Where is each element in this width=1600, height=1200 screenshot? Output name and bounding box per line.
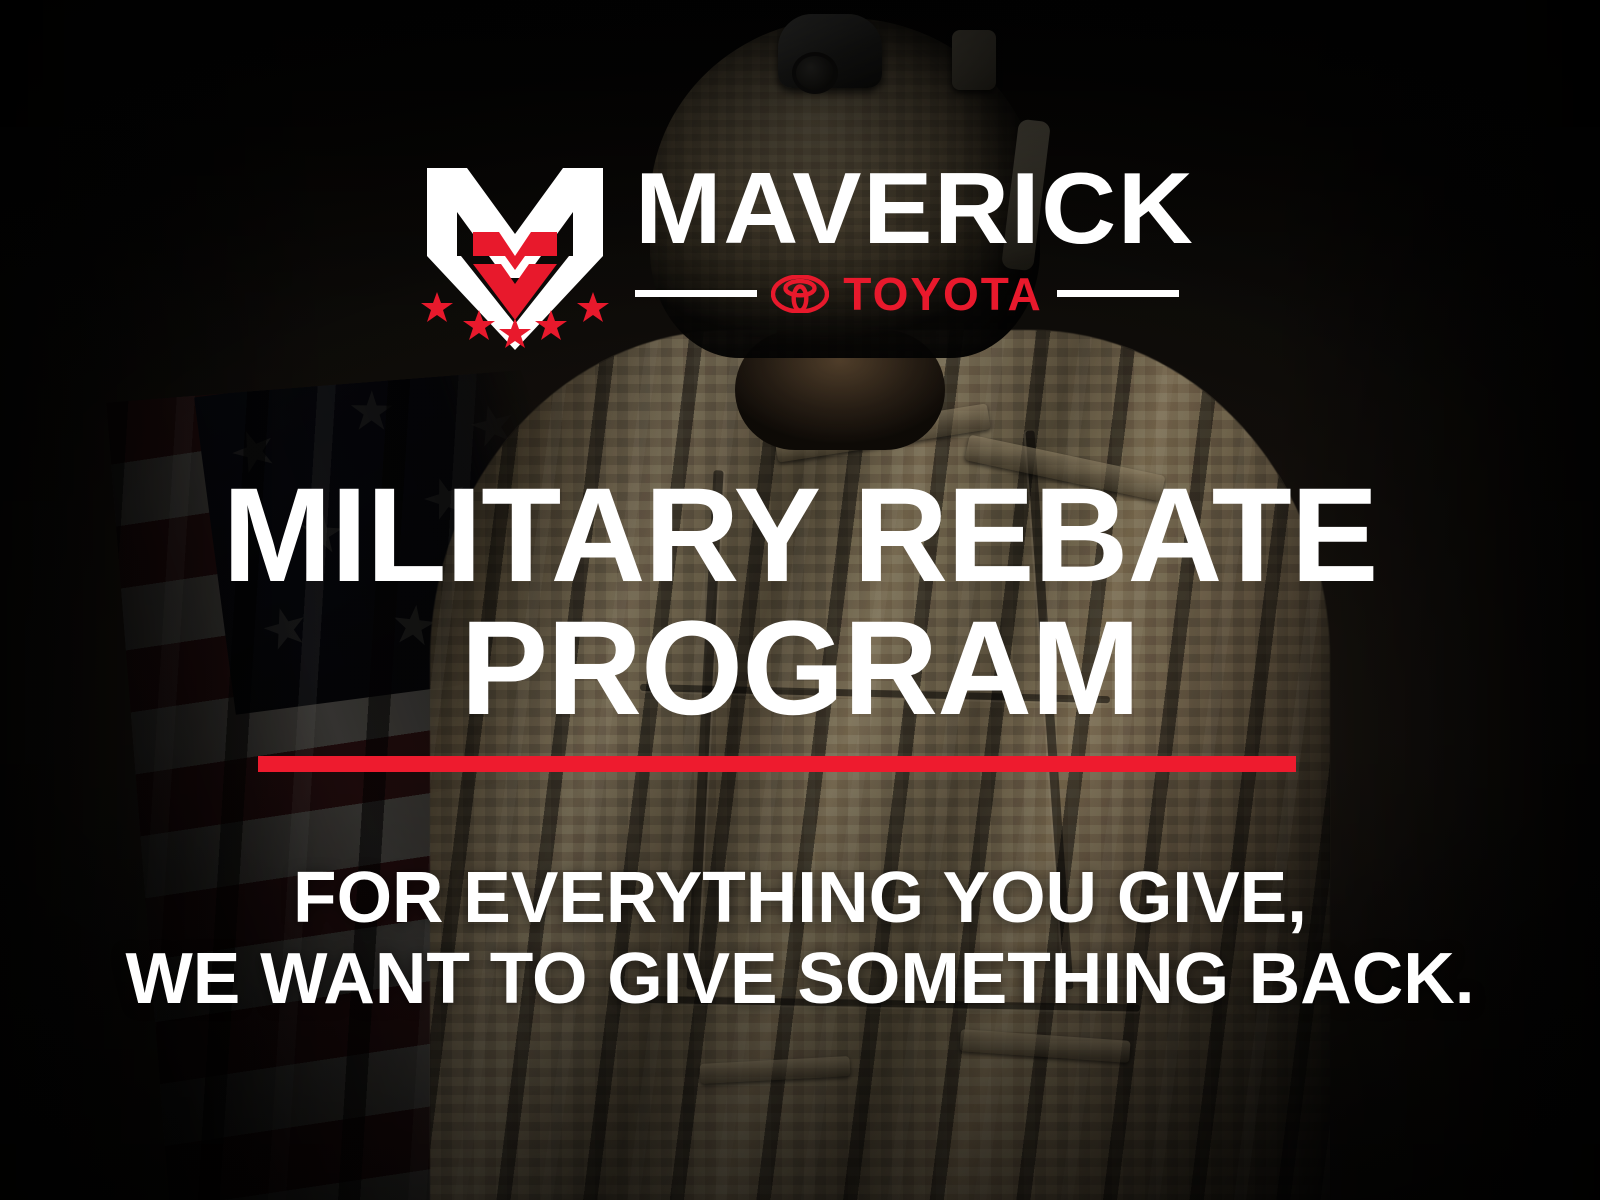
toyota-sub-brand-row: TOYOTA	[635, 271, 1178, 317]
emblem-star-icon	[535, 310, 567, 340]
brand-name: MAVERICK	[635, 160, 1194, 259]
emblem-star-icon	[421, 292, 453, 322]
toyota-ellipses-logo-icon	[771, 275, 829, 313]
brand-logo-lockup[interactable]: MAVERICK TOYOTA	[0, 160, 1600, 350]
page-title: MILITARY REBATE PROGRAM	[16, 470, 1584, 735]
emblem-star-icon	[499, 318, 531, 348]
headline-line-1: MILITARY REBATE	[16, 470, 1584, 603]
brand-wordmark-group: MAVERICK TOYOTA	[635, 160, 1178, 317]
banner-content: MAVERICK TOYOTA MILITARY REB	[0, 0, 1600, 1200]
maverick-chevron-m-emblem-icon	[421, 160, 609, 350]
red-divider-rule	[258, 756, 1296, 772]
toyota-sub-brand-name: TOYOTA	[843, 271, 1042, 317]
headline-line-2: PROGRAM	[16, 603, 1584, 736]
tagline-line-1: FOR EVERYTHING YOU GIVE,	[8, 858, 1592, 939]
military-rebate-banner: ★ ★ ★ ★ ★ ★ ★ ★ ★	[0, 0, 1600, 1200]
tagline: FOR EVERYTHING YOU GIVE, WE WANT TO GIVE…	[8, 858, 1592, 1019]
emblem-star-icon	[577, 292, 609, 322]
tagline-line-2: WE WANT TO GIVE SOMETHING BACK.	[8, 939, 1592, 1020]
emblem-star-icon	[463, 310, 495, 340]
toyota-rule-right	[1057, 290, 1179, 297]
toyota-rule-left	[635, 290, 757, 297]
